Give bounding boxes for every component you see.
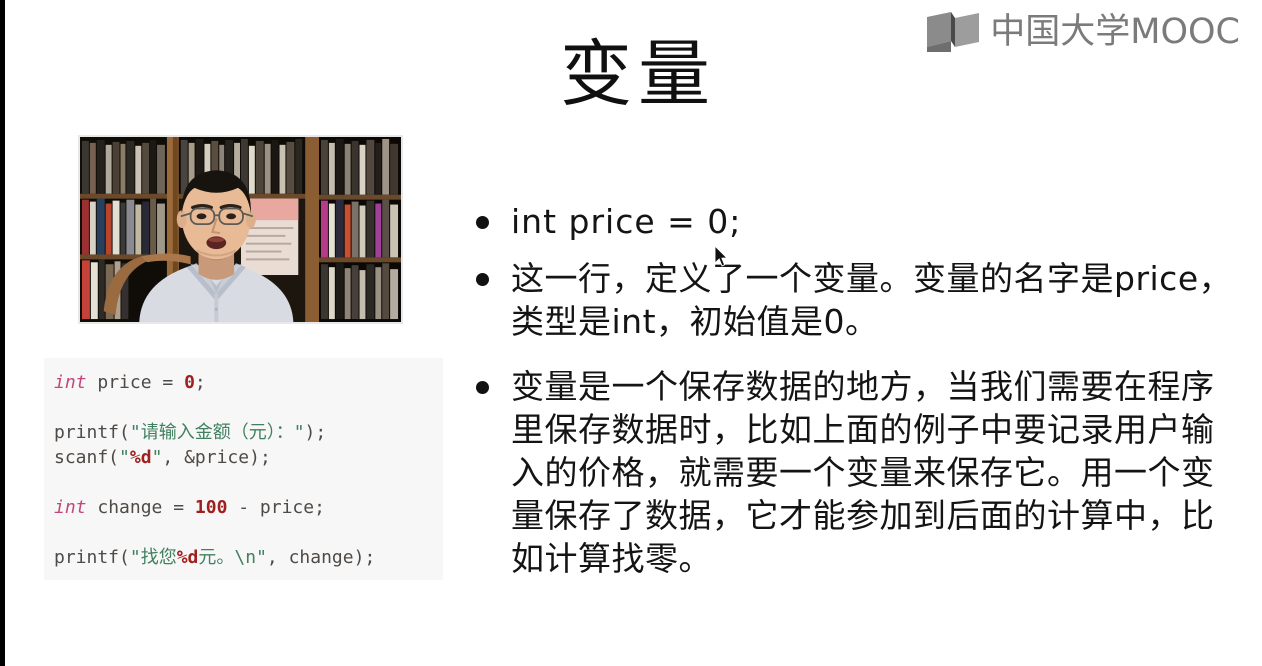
logo-text: 中国大学MOOC <box>990 15 1240 50</box>
code-token-str: "找您 <box>130 547 177 568</box>
code-token-fmt: %d <box>130 447 152 468</box>
code-token-plain: printf( <box>54 422 130 443</box>
code-token-str: 元。\n" <box>198 547 267 568</box>
code-token-plain: = <box>162 372 184 393</box>
code-token-str: "请输入金额（元）：" <box>130 422 305 443</box>
code-token-plain: - price; <box>227 497 325 518</box>
code-token-plain: , &price); <box>162 447 270 468</box>
code-token-str: " <box>119 447 130 468</box>
list-item: 这一行，定义了一个变量。变量的名字是price，类型是int，初始值是0。 <box>476 257 1246 343</box>
open-book-icon <box>925 11 981 53</box>
video-still-image <box>80 137 401 322</box>
code-line: int change = 100 - price; <box>54 495 433 520</box>
code-token-plain: printf( <box>54 547 130 568</box>
code-token-plain: scanf( <box>54 447 119 468</box>
code-token-fmt: %d <box>177 547 199 568</box>
bullet-text: 变量是一个保存数据的地方，当我们需要在程序里保存数据时，比如上面的例子中要记录用… <box>511 365 1246 580</box>
code-blank-line <box>54 520 433 545</box>
code-line: printf("请输入金额（元）："); <box>54 420 433 445</box>
code-token-kw: int <box>54 497 87 518</box>
code-token-num: 0 <box>184 372 195 393</box>
page-title: 变量 <box>560 37 716 113</box>
slide-canvas: 中国大学MOOC 变量 <box>0 0 1262 666</box>
bullet-text: int price = 0; <box>511 200 1246 243</box>
code-token-plain: price <box>87 372 163 393</box>
left-edge-bar <box>0 0 5 666</box>
code-blank-line <box>54 470 433 495</box>
code-token-plain: change = <box>87 497 195 518</box>
list-item: int price = 0; <box>476 200 1246 243</box>
presenter-video-thumbnail[interactable] <box>78 135 403 324</box>
bullet-text: 这一行，定义了一个变量。变量的名字是price，类型是int，初始值是0。 <box>511 257 1246 343</box>
code-token-str: " <box>152 447 163 468</box>
code-token-num: 100 <box>195 497 228 518</box>
code-blank-line <box>54 395 433 420</box>
code-token-plain: ; <box>195 372 206 393</box>
code-line: int price = 0; <box>54 370 433 395</box>
list-item: 变量是一个保存数据的地方，当我们需要在程序里保存数据时，比如上面的例子中要记录用… <box>476 365 1246 580</box>
code-token-plain: , change); <box>267 547 375 568</box>
code-line: scanf("%d", &price); <box>54 445 433 470</box>
code-line: printf("找您%d元。\n", change); <box>54 545 433 570</box>
code-snippet: int price = 0;printf("请输入金额（元）：");scanf(… <box>44 358 443 580</box>
bullet-dot-icon <box>476 381 489 394</box>
code-token-plain: ); <box>305 422 327 443</box>
bullet-dot-icon <box>476 216 489 229</box>
code-token-kw: int <box>54 372 87 393</box>
mooc-logo: 中国大学MOOC <box>925 8 1240 56</box>
bullet-dot-icon <box>476 273 489 286</box>
bullet-list: int price = 0; 这一行，定义了一个变量。变量的名字是price，类… <box>476 200 1246 586</box>
